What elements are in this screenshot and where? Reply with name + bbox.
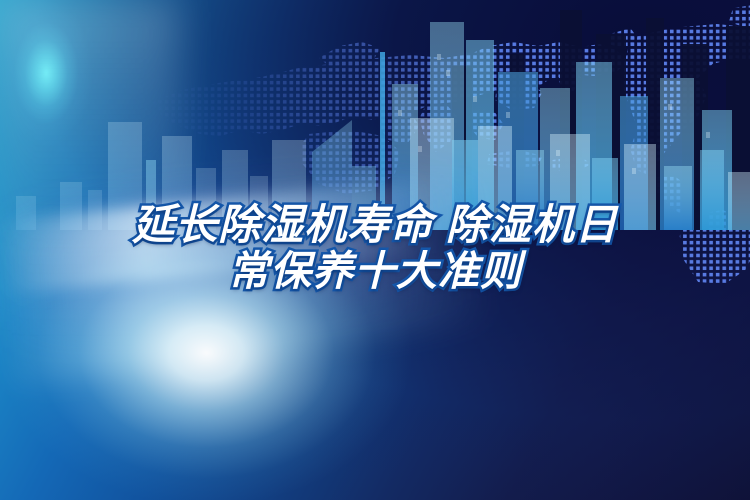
- skyline-mid-row: [380, 22, 732, 230]
- skyline-back-row: [452, 10, 750, 230]
- skyline-windows: [398, 54, 710, 174]
- banner-image: 延长除湿机寿命 除湿机日 常保养十大准则: [0, 0, 750, 500]
- banner-title: 延长除湿机寿命 除湿机日 常保养十大准则: [0, 202, 750, 294]
- title-line-2: 常保养十大准则: [0, 248, 750, 294]
- title-line-1: 延长除湿机寿命 除湿机日: [0, 202, 750, 248]
- bokeh-decoration: [0, 0, 430, 200]
